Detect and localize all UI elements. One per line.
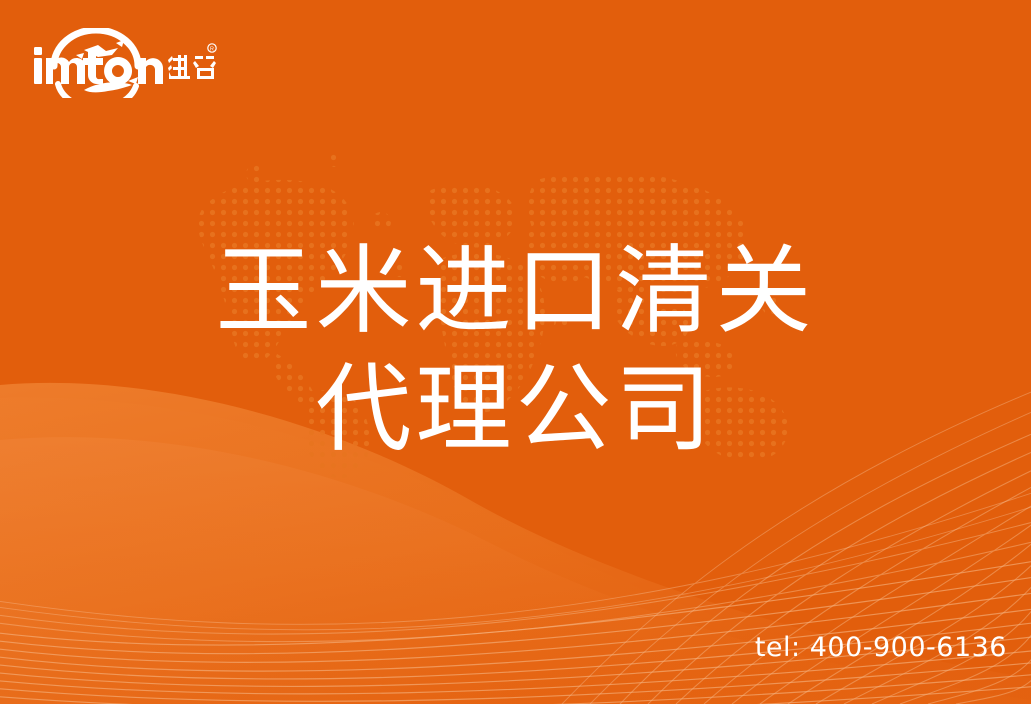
registered-trademark-icon: R	[208, 44, 216, 53]
globe-swoosh-mark: R	[32, 28, 217, 98]
contact-phone: tel: 400-900-6136	[755, 632, 1007, 663]
svg-text:R: R	[210, 47, 214, 53]
headline-line-1: 玉米进口清关	[0, 232, 1031, 350]
promo-banner: R 玉米进口清关 代理公司 tel: 400-900-6136	[0, 0, 1031, 704]
headline-line-2: 代理公司	[0, 350, 1031, 468]
page-title: 玉米进口清关 代理公司	[0, 232, 1031, 468]
brand-logo[interactable]: R	[32, 28, 217, 98]
